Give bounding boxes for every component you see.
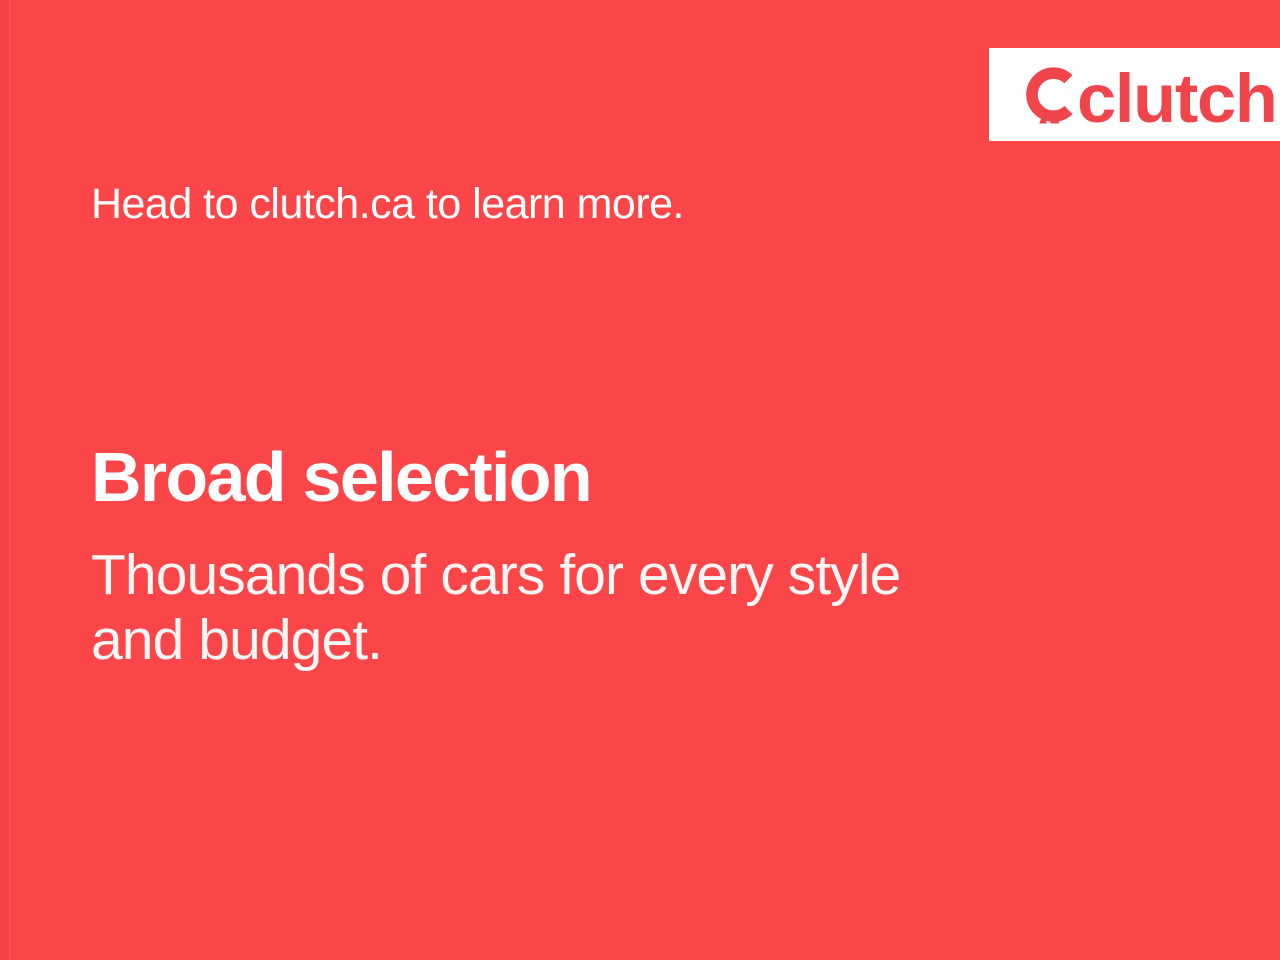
clutch-logo-lockup: clutch <box>1025 62 1273 128</box>
kicker-text: Head to clutch.ca to learn more. <box>91 180 684 228</box>
subhead-line-1: Thousands of cars for every style <box>91 543 1051 608</box>
slide-left-edge-shade <box>0 0 9 960</box>
clutch-logo-card: clutch <box>989 48 1280 141</box>
subhead-text: Thousands of cars for every style and bu… <box>91 543 1051 673</box>
slide-canvas: clutch Head to clutch.ca to learn more. … <box>0 0 1280 960</box>
slide-edge-seam <box>9 0 11 960</box>
clutch-c-icon <box>1025 66 1075 128</box>
subhead-line-2: and budget. <box>91 608 1051 673</box>
clutch-wordmark: clutch <box>1077 70 1277 128</box>
headline-text: Broad selection <box>91 440 591 516</box>
